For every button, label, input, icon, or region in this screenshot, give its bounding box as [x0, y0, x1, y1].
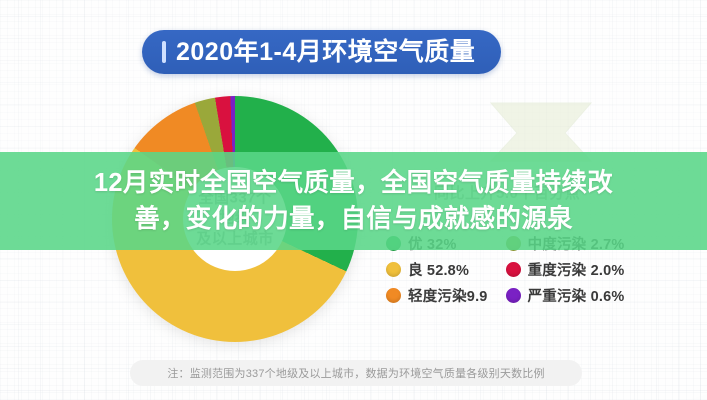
legend-color-swatch [506, 262, 521, 277]
legend-item: 良 52.8% [386, 259, 488, 280]
legend-label: 良 52.8% [408, 259, 469, 280]
footnote-pill: 注：监测范围为337个地级及以上城市，数据为环境空气质量各级别天数比例 [130, 360, 582, 386]
legend-item: 重度污染 2.0% [506, 259, 625, 280]
header-badge: 2020年1-4月环境空气质量 [142, 30, 501, 74]
infographic-canvas: 2020年1-4月环境空气质量 全国337个 地级 及以上城市 同比上升5.0个… [0, 0, 707, 400]
legend-color-swatch [386, 288, 401, 303]
caption-overlay-band: 12月实时全国空气质量，全国空气质量持续改 善，变化的力量，自信与成就感的源泉 [0, 152, 707, 250]
caption-line-1: 12月实时全国空气质量，全国空气质量持续改 [18, 165, 690, 201]
legend-label: 严重污染 0.6% [528, 285, 625, 306]
legend-color-swatch [506, 288, 521, 303]
legend-label: 轻度污染9.9 [408, 285, 488, 306]
accent-bar-icon [162, 41, 166, 63]
legend-color-swatch [386, 262, 401, 277]
page-title: 2020年1-4月环境空气质量 [176, 40, 475, 65]
caption-text: 12月实时全国空气质量，全国空气质量持续改 善，变化的力量，自信与成就感的源泉 [18, 165, 690, 237]
legend-item: 轻度污染9.9 [386, 285, 488, 306]
footnote-text: 注：监测范围为337个地级及以上城市，数据为环境空气质量各级别天数比例 [167, 365, 544, 381]
caption-line-2: 善，变化的力量，自信与成就感的源泉 [18, 201, 690, 237]
legend-label: 重度污染 2.0% [528, 259, 625, 280]
legend-item: 严重污染 0.6% [506, 285, 625, 306]
